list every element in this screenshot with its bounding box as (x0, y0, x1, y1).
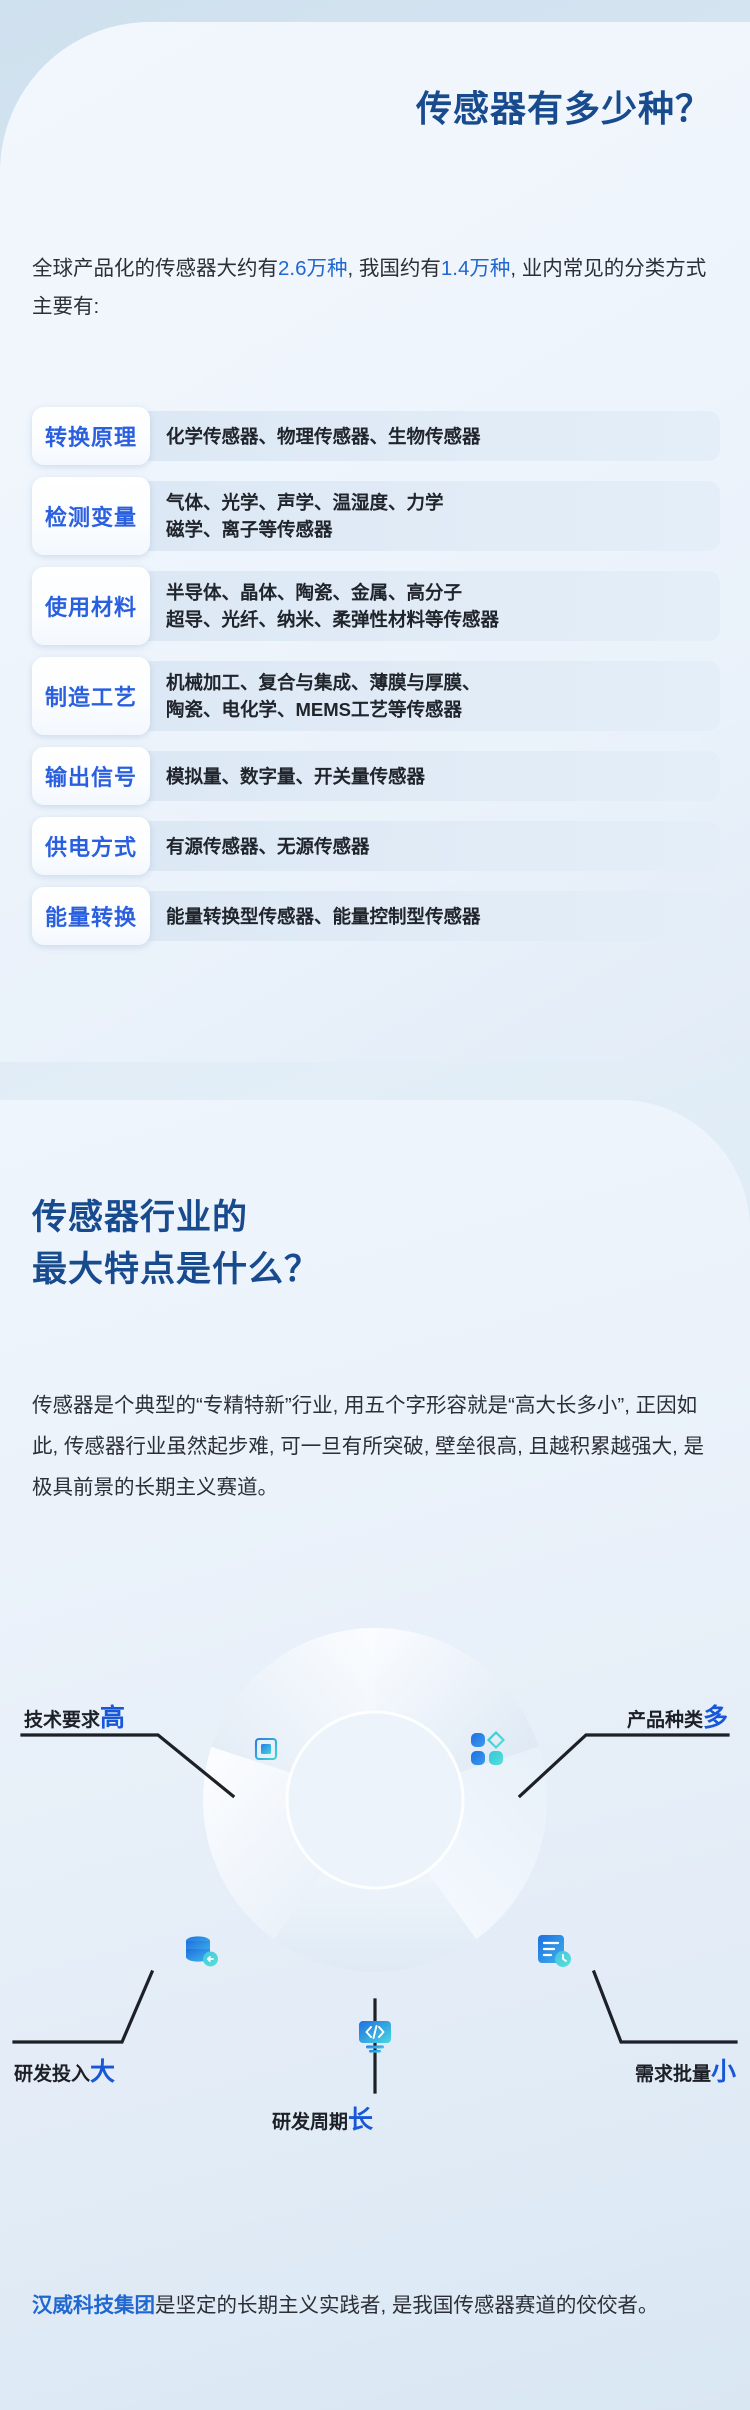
section-one-panel: 传感器有多少种？ 全球产品化的传感器大约有2.6万种, 我国约有1.4万种, 业… (0, 22, 750, 1062)
classification-row: 检测变量 气体、光学、声学、温湿度、力学 磁学、离子等传感器 (32, 477, 720, 555)
classification-chip: 输出信号 (32, 747, 150, 805)
description-line: 能量转换型传感器、能量控制型传感器 (166, 903, 704, 930)
closing-text: 是坚定的长期主义实践者, 是我国传感器赛道的佼佼者。 (155, 2294, 658, 2317)
classification-chip: 转换原理 (32, 407, 150, 465)
section-one-intro: 全球产品化的传感器大约有2.6万种, 我国约有1.4万种, 业内常见的分类方式主… (32, 250, 720, 326)
classification-row: 使用材料 半导体、晶体、陶瓷、金属、高分子 超导、光纤、纳米、柔弹性材料等传感器 (32, 567, 720, 645)
trait-emphasis: 小 (711, 2058, 736, 2086)
trait-label-demand-batch: 需求批量小 (635, 2052, 736, 2088)
section-one-title: 传感器有多少种？ (416, 80, 712, 132)
classification-row: 制造工艺 机械加工、复合与集成、薄膜与厚膜、 陶瓷、电化学、MEMS工艺等传感器 (32, 657, 720, 735)
trait-text: 需求批量 (635, 2064, 711, 2085)
intro-highlight-global-count: 2.6万种 (278, 257, 348, 280)
classification-row: 能量转换 能量转换型传感器、能量控制型传感器 (32, 887, 720, 945)
trait-emphasis: 长 (348, 2106, 373, 2134)
description-line: 模拟量、数字量、开关量传感器 (166, 763, 704, 790)
trait-emphasis: 大 (90, 2058, 115, 2086)
description-line: 气体、光学、声学、温湿度、力学 (166, 489, 704, 516)
classification-row: 供电方式 有源传感器、无源传感器 (32, 817, 720, 875)
trait-emphasis: 多 (703, 1704, 728, 1732)
intro-text-part-1: 全球产品化的传感器大约有 (32, 257, 278, 280)
classification-description: 模拟量、数字量、开关量传感器 (150, 747, 720, 805)
description-line: 磁学、离子等传感器 (166, 516, 704, 543)
trait-label-rd-cycle: 研发周期长 (272, 2100, 373, 2136)
document-clock-icon (533, 1930, 575, 1972)
trait-text: 产品种类 (627, 1710, 703, 1731)
classification-row: 转换原理 化学传感器、物理传感器、生物传感器 (32, 407, 720, 465)
code-monitor-icon (354, 2015, 396, 2057)
trait-emphasis: 高 (100, 1704, 125, 1732)
description-line: 半导体、晶体、陶瓷、金属、高分子 (166, 579, 704, 606)
section-two-title: 传感器行业的 最大特点是什么？ (32, 1192, 320, 1296)
infographic-page: 传感器有多少种？ 全球产品化的传感器大约有2.6万种, 我国约有1.4万种, 业… (0, 0, 750, 2410)
classification-description: 气体、光学、声学、温湿度、力学 磁学、离子等传感器 (150, 477, 720, 555)
classification-chip: 检测变量 (32, 477, 150, 555)
chip-label: 能量转换 (45, 900, 137, 932)
chip-label: 检测变量 (45, 500, 137, 532)
chip-label: 转换原理 (45, 420, 137, 452)
closing-paragraph: 汉威科技集团是坚定的长期主义实践者, 是我国传感器赛道的佼佼者。 (32, 2285, 722, 2326)
classification-chip: 能量转换 (32, 887, 150, 945)
chip-label: 使用材料 (45, 590, 137, 622)
description-line: 陶瓷、电化学、MEMS工艺等传感器 (166, 696, 704, 723)
classification-chip: 制造工艺 (32, 657, 150, 735)
classification-chip: 使用材料 (32, 567, 150, 645)
classification-description: 能量转换型传感器、能量控制型传感器 (150, 887, 720, 945)
classification-row: 输出信号 模拟量、数字量、开关量传感器 (32, 747, 720, 805)
trait-label-rd-investment: 研发投入大 (14, 2052, 115, 2088)
trait-text: 研发投入 (14, 2064, 90, 2085)
five-traits-diagram: 技术要求高 产品种类多 研发投入大 需求批量小 研发周期长 (0, 1600, 750, 2260)
classification-chip: 供电方式 (32, 817, 150, 875)
description-line: 有源传感器、无源传感器 (166, 833, 704, 860)
section-two-panel: 传感器行业的 最大特点是什么？ 传感器是个典型的“专精特新”行业, 用五个字形容… (0, 1100, 750, 2410)
shapes-icon (466, 1728, 508, 1770)
trait-text: 研发周期 (272, 2112, 348, 2133)
description-line: 机械加工、复合与集成、薄膜与厚膜、 (166, 669, 704, 696)
section-two-paragraph: 传感器是个典型的“专精特新”行业, 用五个字形容就是“高大长多小”, 正因如此,… (32, 1385, 722, 1508)
classification-description: 半导体、晶体、陶瓷、金属、高分子 超导、光纤、纳米、柔弹性材料等传感器 (150, 567, 720, 645)
donut-chart (195, 1620, 555, 1980)
brand-name: 汉威科技集团 (32, 2294, 155, 2317)
trait-label-product-variety: 产品种类多 (627, 1698, 728, 1734)
chip-icon (245, 1728, 287, 1770)
intro-text-part-2: , 我国约有 (348, 257, 441, 280)
database-icon (180, 1930, 222, 1972)
description-line: 化学传感器、物理传感器、生物传感器 (166, 423, 704, 450)
section-two-title-line-1: 传感器行业的 (32, 1192, 320, 1244)
intro-highlight-china-count: 1.4万种 (441, 257, 511, 280)
classification-description: 化学传感器、物理传感器、生物传感器 (150, 407, 720, 465)
chip-label: 输出信号 (45, 760, 137, 792)
classification-description: 有源传感器、无源传感器 (150, 817, 720, 875)
trait-label-technical-requirement: 技术要求高 (24, 1698, 125, 1734)
chip-label: 供电方式 (45, 830, 137, 862)
trait-text: 技术要求 (24, 1710, 100, 1731)
chip-label: 制造工艺 (45, 680, 137, 712)
section-two-title-line-2: 最大特点是什么？ (32, 1244, 320, 1296)
description-line: 超导、光纤、纳米、柔弹性材料等传感器 (166, 606, 704, 633)
classification-description: 机械加工、复合与集成、薄膜与厚膜、 陶瓷、电化学、MEMS工艺等传感器 (150, 657, 720, 735)
classification-list: 转换原理 化学传感器、物理传感器、生物传感器 检测变量 气体、光学、声学、温湿度… (32, 407, 720, 957)
